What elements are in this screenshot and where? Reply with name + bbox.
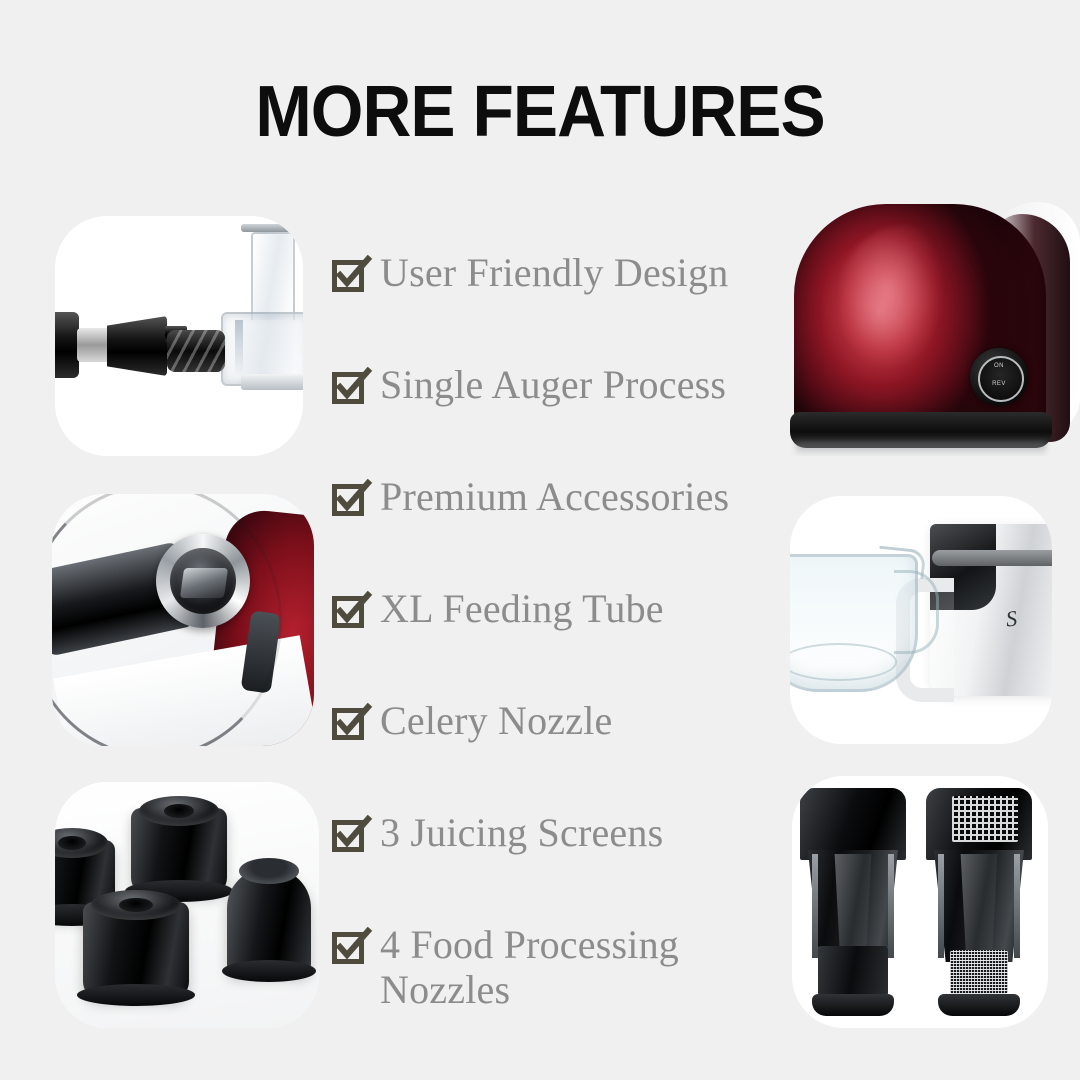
screen-arm-left-b <box>888 854 894 958</box>
screen-hood-left <box>800 788 906 860</box>
feature-label: User Friendly Design <box>380 250 728 295</box>
auger-screw-shape <box>167 330 225 372</box>
auger-lid-shape <box>241 224 303 232</box>
nozzles-card <box>55 782 319 1028</box>
screen-foot-left <box>812 994 894 1016</box>
feature-list: User Friendly Design Single Auger Proces… <box>332 250 752 1034</box>
checked-box-icon <box>332 818 366 852</box>
checked-box-icon <box>332 482 366 516</box>
auger-assembly-photo <box>55 216 303 456</box>
feature-item-juicing-screens: 3 Juicing Screens <box>332 810 752 922</box>
celery-nozzle-foot <box>222 960 316 982</box>
feature-label: Premium Accessories <box>380 474 729 519</box>
screen-blank-insert <box>818 946 888 996</box>
feeding-tube-photo <box>52 494 314 746</box>
nozzle-hole-b <box>164 804 195 818</box>
nozzle-shape-b <box>131 808 227 894</box>
auger-feed-tube-shape <box>251 232 295 320</box>
screen-arm-right-a <box>938 854 944 958</box>
knob-rev-label: REV <box>970 381 1028 387</box>
juicing-screens-photo <box>792 776 1048 1028</box>
feature-item-user-friendly-design: User Friendly Design <box>332 250 752 362</box>
checked-box-icon <box>332 930 366 964</box>
white-pitcher-shape: S <box>930 524 1052 696</box>
checked-box-icon <box>332 258 366 292</box>
auger-cone-shape <box>107 316 167 376</box>
white-pitcher-rim <box>932 550 1052 566</box>
red-juicer-body-card: ON REV <box>772 196 1080 456</box>
nozzles-photo <box>55 782 319 1028</box>
auger-cap-shape <box>55 312 79 378</box>
brand-script-mark: S <box>1005 605 1019 632</box>
checked-box-icon <box>332 706 366 740</box>
juicer-gloss-highlight <box>840 226 960 394</box>
feature-infographic: MORE FEATURES ON REV <box>0 0 1080 1080</box>
juicer-base-shadow <box>796 442 1046 456</box>
auger-foot-shape <box>241 374 303 390</box>
juicing-screen-mesh <box>926 788 1032 1016</box>
feature-item-celery-nozzle: Celery Nozzle <box>332 698 752 810</box>
screen-arm-right-b <box>1014 854 1020 958</box>
nozzle-hole-c <box>119 898 153 912</box>
feature-label: 3 Juicing Screens <box>380 810 663 855</box>
screen-arm-left-a <box>812 854 818 958</box>
feature-item-premium-accessories: Premium Accessories <box>332 474 752 586</box>
celery-nozzle-shape <box>227 868 311 974</box>
nozzle-hole-a <box>58 836 86 850</box>
juicing-screens-card <box>792 776 1048 1028</box>
screen-hood-right <box>926 788 1032 860</box>
nozzle-foot-c <box>77 984 196 1006</box>
feature-label: Single Auger Process <box>380 362 726 407</box>
pitchers-card: S <box>790 496 1052 744</box>
checked-box-icon <box>332 594 366 628</box>
auger-assembly-card <box>55 216 303 456</box>
page-title: MORE FEATURES <box>32 76 1047 148</box>
juicer-dome-shape: ON REV <box>794 204 1046 436</box>
feature-label: XL Feeding Tube <box>380 586 664 631</box>
feeding-tube-highlight-arc <box>52 494 282 746</box>
feature-item-xl-feeding-tube: XL Feeding Tube <box>332 586 752 698</box>
nozzle-shape-c <box>83 902 189 998</box>
red-juicer-body-photo: ON REV <box>772 196 1080 456</box>
juicer-shadow-edge <box>990 214 1070 442</box>
feature-label: 4 Food Processing Nozzles <box>380 922 679 1012</box>
glass-jug-handle <box>894 570 939 654</box>
screen-strainer-insert <box>950 950 1008 994</box>
pitchers-photo: S <box>790 496 1052 744</box>
checked-box-icon <box>332 370 366 404</box>
feature-item-single-auger-process: Single Auger Process <box>332 362 752 474</box>
celery-nozzle-opening <box>239 858 299 884</box>
feeding-tube-card <box>52 494 314 746</box>
knob-on-label: ON <box>970 363 1028 369</box>
feature-item-food-processing-nozzles: 4 Food Processing Nozzles <box>332 922 752 1034</box>
auger-collar-shape <box>77 328 111 362</box>
screen-mesh-grid <box>952 796 1018 842</box>
juicer-control-knob: ON REV <box>970 348 1028 406</box>
screen-foot-right <box>938 994 1020 1016</box>
feature-label: Celery Nozzle <box>380 698 612 743</box>
juicing-screen-solid <box>800 788 906 1016</box>
